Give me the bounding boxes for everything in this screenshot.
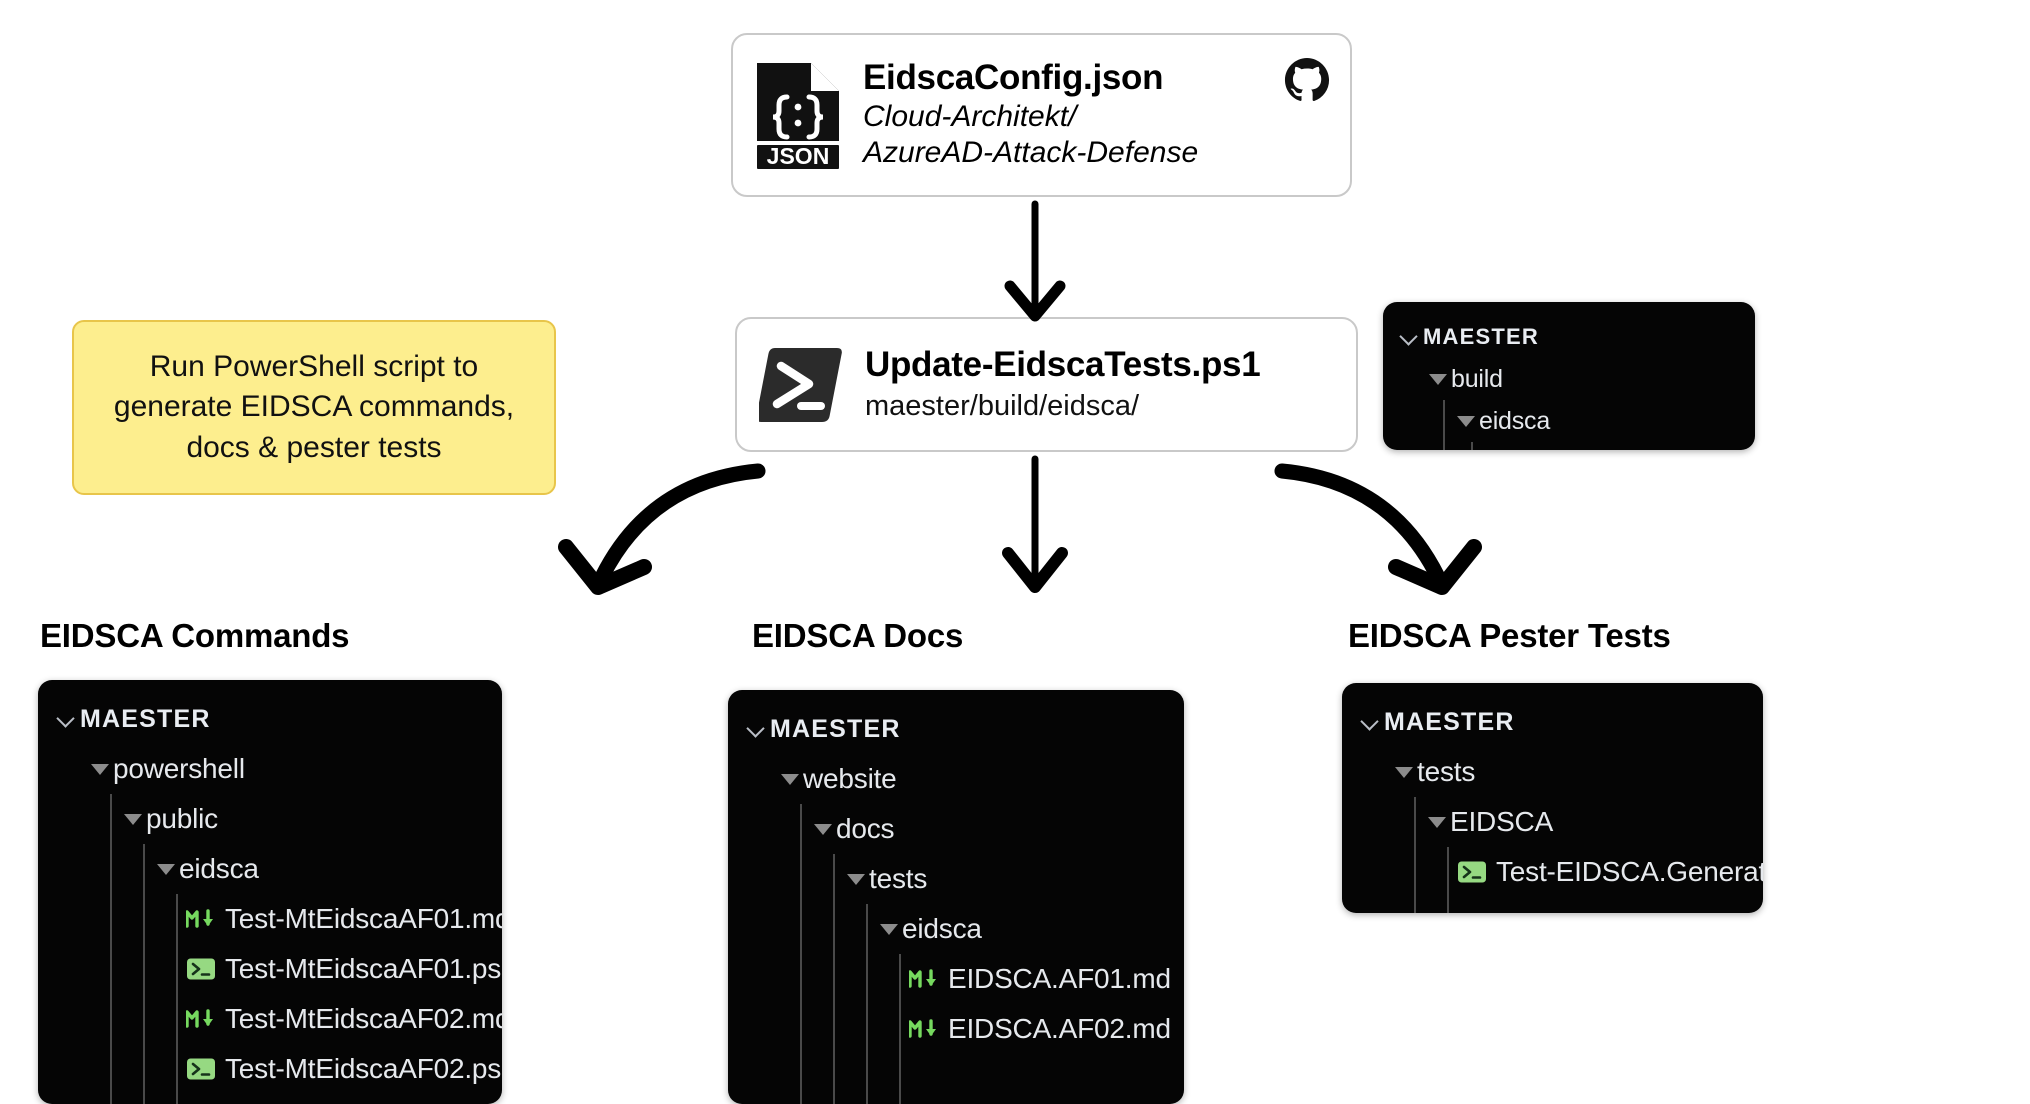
tree-item-label: Test-EIDSCA.Generated.Tests.ps1 [1496, 856, 1763, 888]
tree-row-file[interactable]: Test-MtEidscaAF02.ps1 [38, 1044, 502, 1094]
triangle-down-icon[interactable] [777, 774, 803, 785]
tree-item-label: Test-MtEidscaAF01.ps1 [225, 953, 502, 985]
script-card-path: maester/build/eidsca/ [865, 388, 1260, 424]
diagram-canvas: JSON EidscaConfig.json Cloud-Architekt/ … [0, 0, 2030, 1104]
arrow-script-to-docs [960, 455, 1110, 605]
tree-row-folder[interactable]: tests [728, 854, 1184, 904]
tree-item-label: tests [869, 863, 927, 895]
tree-indent-guide [176, 894, 178, 1104]
tree-indent-guide [1447, 847, 1449, 913]
script-card: Update-EidscaTests.ps1 maester/build/eid… [735, 317, 1358, 452]
tree-item-label: EIDSCA [1450, 806, 1553, 838]
tree-root-label: MAESTER [770, 715, 901, 744]
tree-row-file[interactable]: EIDSCA.AF02.md [728, 1004, 1184, 1054]
tree-row-root[interactable]: MAESTER [728, 704, 1184, 754]
tree-indent-guide [866, 904, 868, 1104]
tree-row-root[interactable]: MAESTER [1342, 697, 1763, 747]
script-card-text: Update-EidscaTests.ps1 maester/build/eid… [865, 345, 1260, 424]
tree-row-folder[interactable]: EIDSCA [1342, 797, 1763, 847]
powershell-file-icon [186, 957, 216, 981]
powershell-file-icon [1457, 860, 1487, 884]
tree-row-folder[interactable]: eidsca [1383, 400, 1755, 442]
tree-item-label: eidsca [902, 913, 982, 945]
tree-indent-guide [110, 794, 112, 1104]
svg-text:JSON: JSON [767, 143, 830, 169]
arrow-source-to-script [960, 200, 1110, 330]
file-tree-pester[interactable]: MAESTERtestsEIDSCATest-EIDSCA.Generated.… [1342, 683, 1763, 913]
tree-item-label: build [1451, 365, 1503, 394]
tree-root-label: MAESTER [1384, 708, 1515, 737]
markdown-file-icon [909, 1018, 939, 1040]
tree-item-label: eidsca [179, 853, 259, 885]
tree-item-label: EIDSCA.AF02.md [948, 1013, 1171, 1045]
file-tree-commands[interactable]: MAESTERpowershellpubliceidscaTest-MtEids… [38, 680, 502, 1104]
chevron-down-icon[interactable] [1358, 712, 1384, 732]
triangle-down-icon[interactable] [843, 874, 869, 885]
triangle-down-icon[interactable] [876, 924, 902, 935]
chevron-down-icon[interactable] [54, 709, 80, 729]
markdown-file-icon [186, 908, 216, 930]
tree-item-label: powershell [113, 753, 245, 785]
tree-indent-guide [1471, 442, 1473, 450]
tree-root-label: MAESTER [1423, 324, 1539, 350]
tree-row-folder[interactable]: eidsca [728, 904, 1184, 954]
markdown-file-icon [186, 1008, 216, 1030]
tree-row-root[interactable]: MAESTER [1383, 316, 1755, 358]
triangle-down-icon[interactable] [1453, 416, 1479, 427]
triangle-down-icon[interactable] [120, 814, 146, 825]
tree-item-label: eidsca [1479, 407, 1550, 436]
tree-item-label: public [146, 803, 218, 835]
tree-row-file[interactable]: Test-MtEidscaAF01.ps1 [38, 944, 502, 994]
source-card-repo: AzureAD-Attack-Defense [863, 135, 1198, 172]
source-card-title: EidscaConfig.json [863, 58, 1198, 98]
file-tree-build[interactable]: MAESTERbuildeidscaUpdate-EidscaTests.ps1 [1383, 302, 1755, 450]
file-tree-docs[interactable]: MAESTERwebsitedocstestseidscaEIDSCA.AF01… [728, 690, 1184, 1104]
tree-row-file[interactable]: Test-EIDSCA.Generated.Tests.ps1 [1342, 847, 1763, 897]
chevron-down-icon[interactable] [744, 719, 770, 739]
tree-row-folder[interactable]: build [1383, 358, 1755, 400]
tree-row-folder[interactable]: powershell [38, 744, 502, 794]
section-title-pester: EIDSCA Pester Tests [1348, 617, 1671, 655]
triangle-down-icon[interactable] [1424, 817, 1450, 828]
tree-indent-guide [143, 844, 145, 1104]
source-card-owner: Cloud-Architekt/ [863, 99, 1198, 136]
tree-row-file[interactable]: Test-MtEidscaAF02.md [38, 994, 502, 1044]
tree-row-folder[interactable]: docs [728, 804, 1184, 854]
arrow-script-to-pester [1270, 455, 1500, 610]
github-icon[interactable] [1284, 57, 1330, 103]
tree-item-label: Update-EidscaTests.ps1 [1520, 449, 1755, 451]
tree-row-folder[interactable]: website [728, 754, 1184, 804]
triangle-down-icon[interactable] [87, 764, 113, 775]
tree-indent-guide [899, 954, 901, 1104]
section-title-commands: EIDSCA Commands [40, 617, 349, 655]
triangle-down-icon[interactable] [1425, 374, 1451, 385]
tree-indent-guide [1443, 400, 1445, 450]
tree-item-label: docs [836, 813, 894, 845]
arrow-script-to-commands [540, 455, 770, 610]
tree-indent-guide [833, 854, 835, 1104]
tree-row-root[interactable]: MAESTER [38, 694, 502, 744]
powershell-file-icon [186, 1057, 216, 1081]
tree-row-folder[interactable]: eidsca [38, 844, 502, 894]
triangle-down-icon[interactable] [153, 864, 179, 875]
triangle-down-icon[interactable] [810, 824, 836, 835]
tree-row-folder[interactable]: tests [1342, 747, 1763, 797]
tree-item-label: website [803, 763, 897, 795]
tree-indent-guide [800, 804, 802, 1104]
triangle-down-icon[interactable] [1391, 767, 1417, 778]
tree-row-folder[interactable]: public [38, 794, 502, 844]
powershell-icon [759, 344, 843, 426]
chevron-down-icon[interactable] [1397, 327, 1423, 347]
source-config-card: JSON EidscaConfig.json Cloud-Architekt/ … [731, 33, 1352, 197]
tree-row-file[interactable]: Test-MtEidscaAF01.md [38, 894, 502, 944]
markdown-file-icon [909, 968, 939, 990]
instruction-note-text: Run PowerShell script to generate EIDSCA… [94, 347, 534, 469]
instruction-note: Run PowerShell script to generate EIDSCA… [72, 320, 556, 495]
tree-item-label: Test-MtEidscaAF02.ps1 [225, 1053, 502, 1085]
json-file-icon: JSON [755, 61, 841, 169]
section-title-docs: EIDSCA Docs [752, 617, 963, 655]
tree-item-label: Test-MtEidscaAF01.md [225, 903, 502, 935]
tree-row-file[interactable]: Update-EidscaTests.ps1 [1383, 442, 1755, 450]
script-card-title: Update-EidscaTests.ps1 [865, 345, 1260, 385]
tree-item-label: Test-MtEidscaAF02.md [225, 1003, 502, 1035]
tree-indent-guide [1414, 797, 1416, 913]
tree-row-file[interactable]: EIDSCA.AF01.md [728, 954, 1184, 1004]
tree-item-label: EIDSCA.AF01.md [948, 963, 1171, 995]
tree-item-label: tests [1417, 756, 1475, 788]
tree-root-label: MAESTER [80, 705, 211, 734]
source-card-text: EidscaConfig.json Cloud-Architekt/ Azure… [863, 58, 1198, 171]
